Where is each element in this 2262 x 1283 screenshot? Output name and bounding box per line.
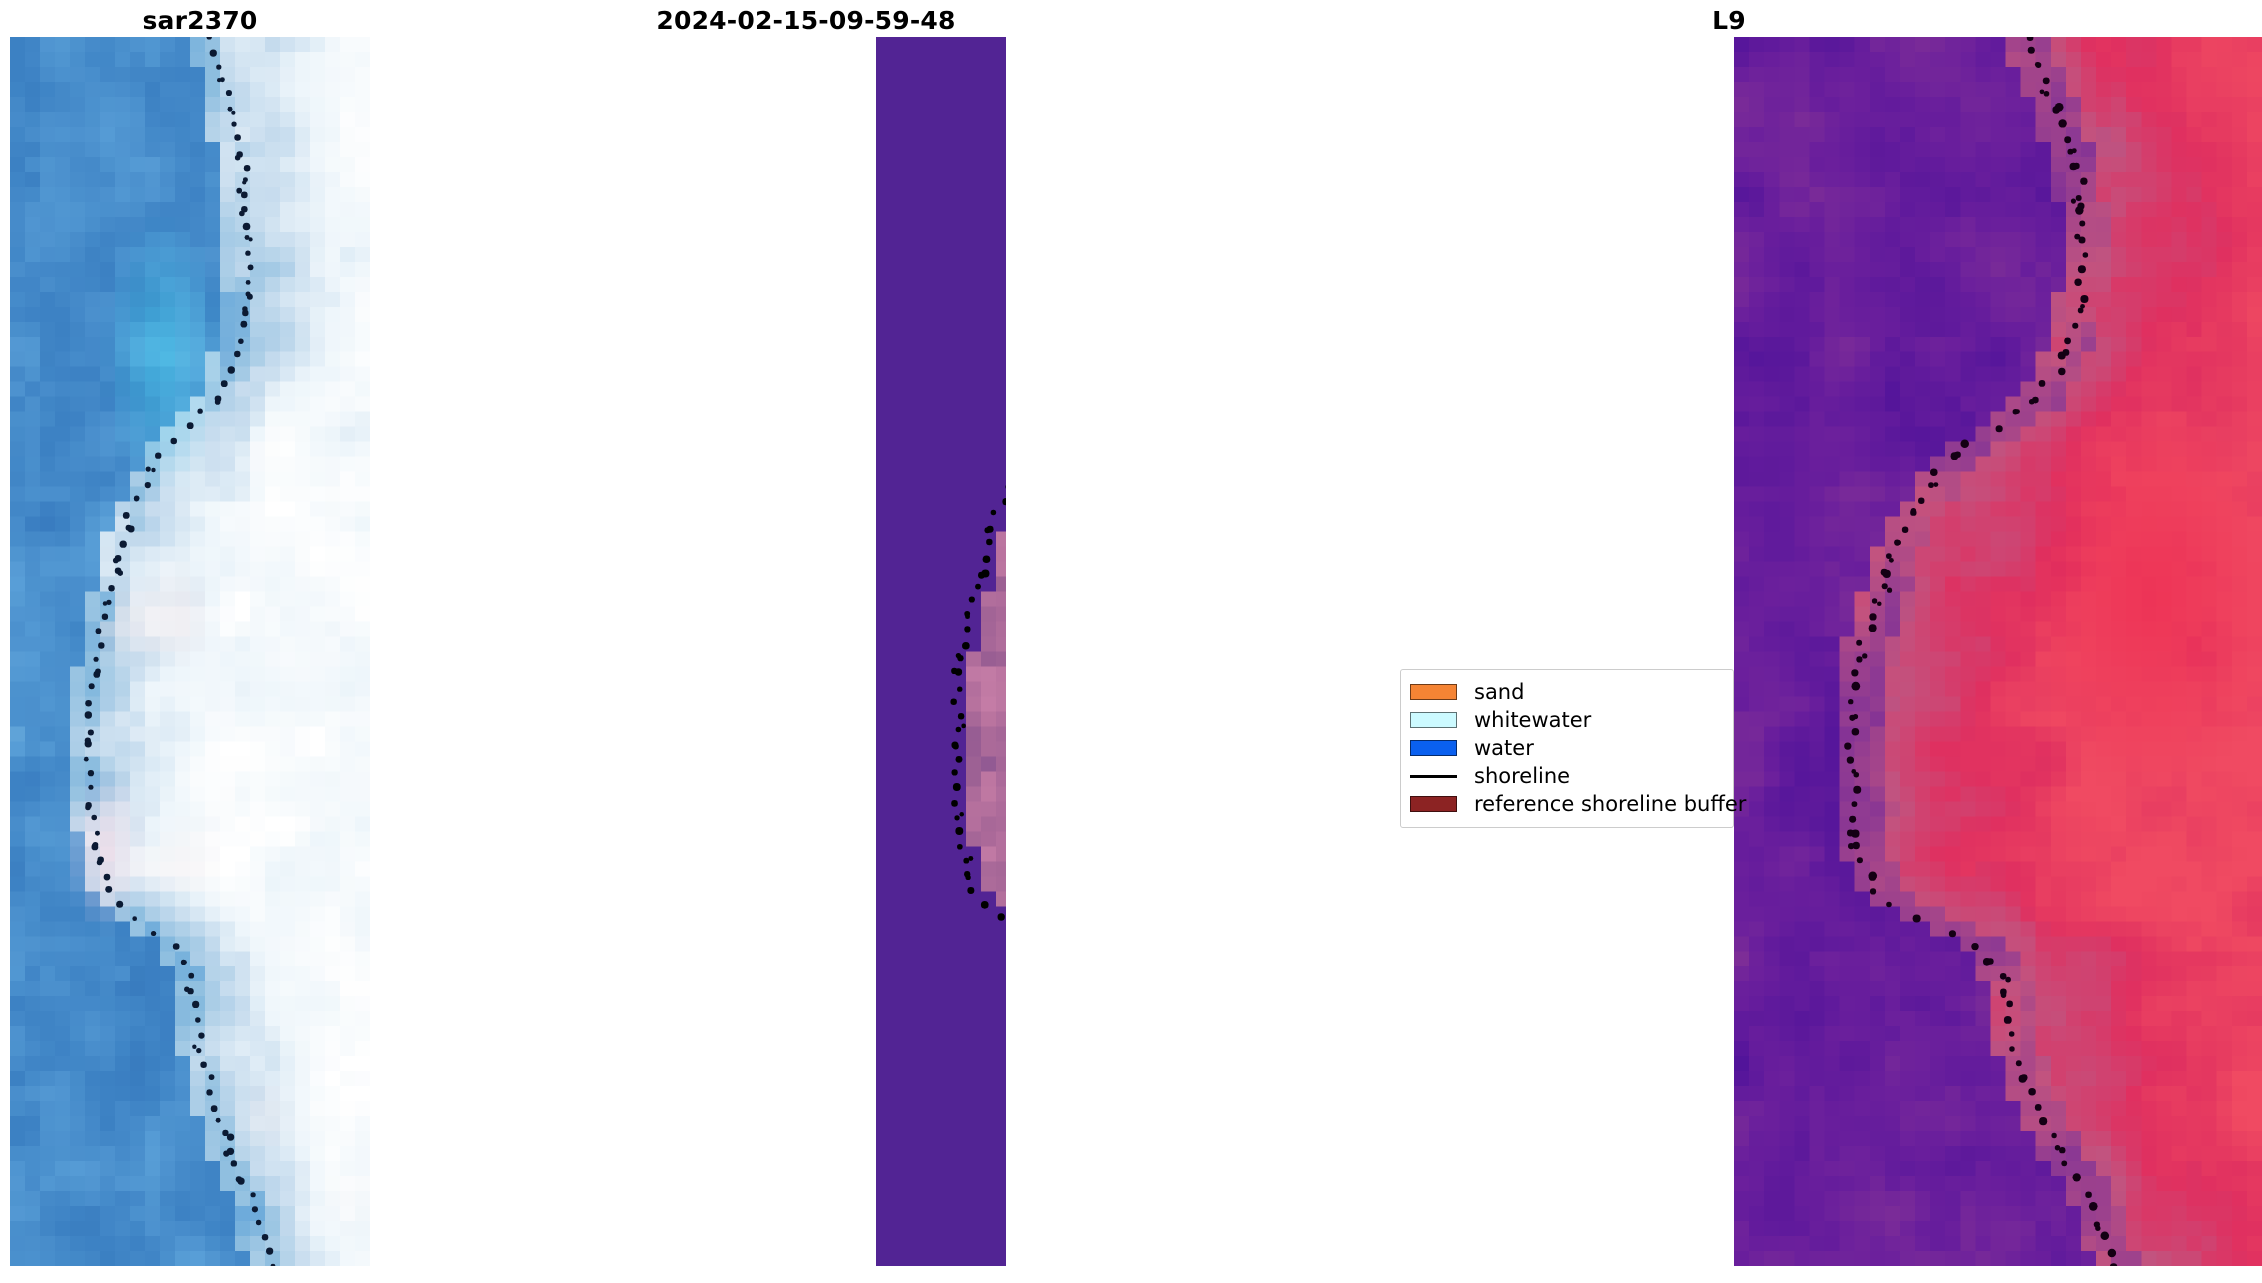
legend-swatch-wrap	[1410, 706, 1466, 734]
legend-label-sand: sand	[1466, 682, 1524, 703]
shoreline-line-icon	[1410, 775, 1457, 778]
panel-l9-title: L9	[1196, 8, 2262, 33]
reference-shoreline-buffer-swatch-icon	[1410, 796, 1457, 812]
l9-raster-image	[1734, 37, 2262, 1266]
legend-item-sand: sand	[1410, 678, 1724, 706]
panel-timestamp-title: 2024-02-15-09-59-48	[606, 8, 1006, 33]
panel-timestamp: 2024-02-15-09-59-48	[606, 0, 1006, 1283]
whitewater-swatch-icon	[1410, 712, 1457, 728]
legend-swatch-wrap	[1410, 762, 1466, 790]
figure-canvas: sar2370 2024-02-15-09-59-48 L9 sand wh	[0, 0, 2262, 1283]
sand-swatch-icon	[1410, 684, 1457, 700]
legend-label-water: water	[1466, 738, 1534, 759]
panel-sar-title: sar2370	[0, 8, 400, 33]
legend-swatch-wrap	[1410, 790, 1466, 818]
classified-raster-image	[876, 37, 1006, 1266]
legend-swatch-wrap	[1410, 734, 1466, 762]
panel-l9: L9	[1196, 0, 2262, 1283]
legend-item-shoreline: shoreline	[1410, 762, 1724, 790]
legend-box: sand whitewater water shoreline referenc…	[1400, 669, 1734, 828]
sar-raster-image	[10, 37, 370, 1266]
legend-label-shoreline: shoreline	[1466, 766, 1570, 787]
legend-item-whitewater: whitewater	[1410, 706, 1724, 734]
legend-item-reference-shoreline-buffer: reference shoreline buffer	[1410, 790, 1724, 818]
legend-item-water: water	[1410, 734, 1724, 762]
legend-label-reference-shoreline-buffer: reference shoreline buffer	[1466, 794, 1746, 815]
panel-sar: sar2370	[0, 0, 400, 1283]
legend-swatch-wrap	[1410, 678, 1466, 706]
legend-label-whitewater: whitewater	[1466, 710, 1591, 731]
water-swatch-icon	[1410, 740, 1457, 756]
